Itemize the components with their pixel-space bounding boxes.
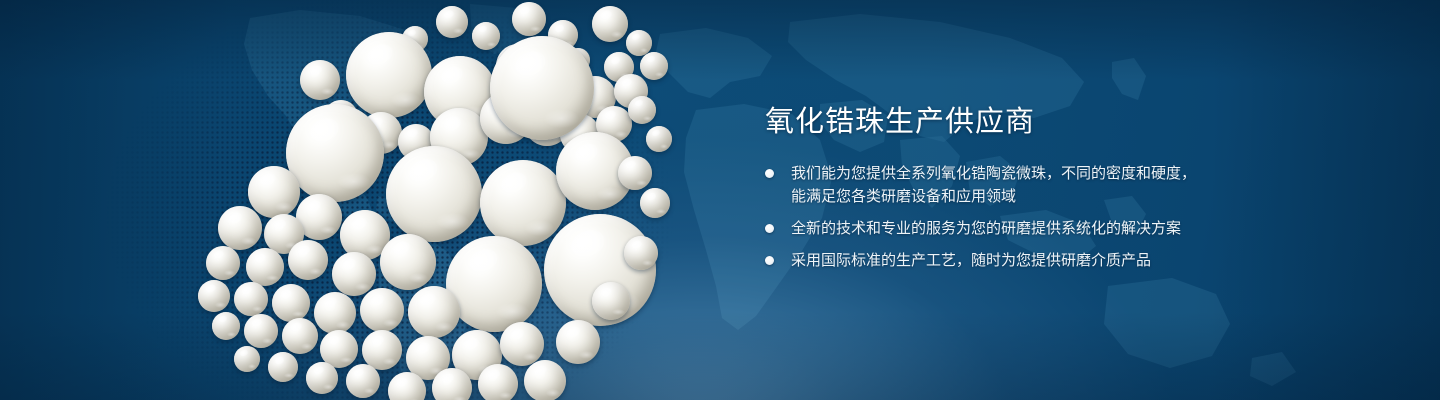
feature-list: 我们能为您提供全系列氧化锆陶瓷微珠，不同的密度和硬度， 能满足您各类研磨设备和应… (765, 162, 1385, 272)
list-item: 我们能为您提供全系列氧化锆陶瓷微珠，不同的密度和硬度， 能满足您各类研磨设备和应… (765, 162, 1385, 208)
page-title: 氧化锆珠生产供应商 (765, 104, 1385, 140)
hero-banner: 氧化锆珠生产供应商 我们能为您提供全系列氧化锆陶瓷微珠，不同的密度和硬度， 能满… (0, 0, 1440, 400)
list-item-text: 全新的技术和专业的服务为您的研磨提供系统化的解决方案 (791, 217, 1385, 240)
bullet-dot-icon (765, 169, 774, 178)
list-item-text: 采用国际标准的生产工艺，随时为您提供研磨介质产品 (791, 249, 1385, 272)
list-item: 全新的技术和专业的服务为您的研磨提供系统化的解决方案 (765, 217, 1385, 240)
list-item-text: 我们能为您提供全系列氧化锆陶瓷微珠，不同的密度和硬度， 能满足您各类研磨设备和应… (791, 162, 1385, 208)
zirconia-beads-image (0, 0, 760, 400)
banner-content: 氧化锆珠生产供应商 我们能为您提供全系列氧化锆陶瓷微珠，不同的密度和硬度， 能满… (765, 104, 1385, 272)
bullet-dot-icon (765, 224, 774, 233)
bullet-dot-icon (765, 256, 774, 265)
list-item: 采用国际标准的生产工艺，随时为您提供研磨介质产品 (765, 249, 1385, 272)
